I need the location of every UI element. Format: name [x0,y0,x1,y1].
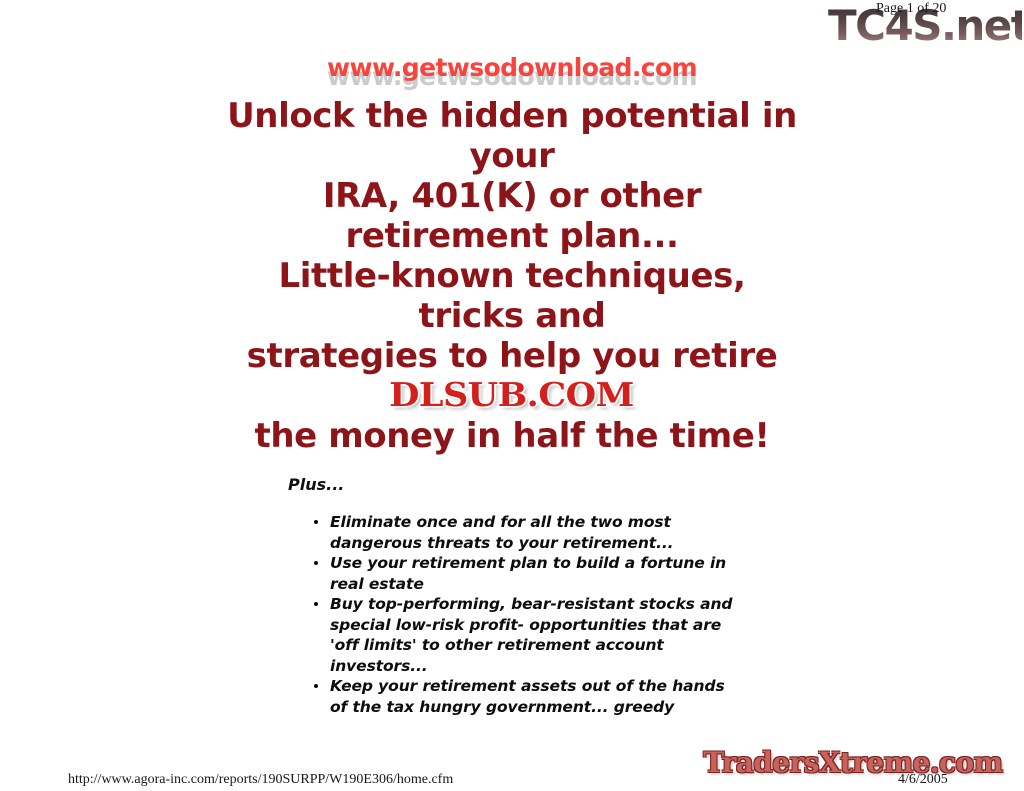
footer-date-label: 4/6/2005 [898,772,948,788]
tradersxtreme-brand-logo-text: TradersXtreme.com [688,746,1018,780]
headline-line-1: Unlock the hidden potential in [142,96,882,136]
headline-line-7: strategies to help you retire [142,336,882,376]
list-item: Buy top-performing, bear-resistant stock… [308,594,738,676]
site-watermark-gray: www.getwsodownload.com [0,62,1024,91]
headline-line-3: IRA, 401(K) or other [142,176,882,216]
tradersxtreme-brand-logo: TradersXtreme.com [688,746,1018,782]
list-item: Use your retirement plan to build a fort… [308,553,738,594]
bullet-dot-icon [314,561,318,565]
headline-line-9: the money in half the time! [142,416,882,456]
list-item: Eliminate once and for all the two most … [308,512,738,553]
bullet-dot-icon [314,520,318,524]
plus-label: Plus... [288,475,344,494]
document-page: TC4S.net Page 1 of 20 www.getwsodownload… [0,0,1024,791]
footer-source-url: http://www.agora-inc.com/reports/190SURP… [68,772,453,788]
site-watermark-red: www.getwsodownload.com [0,53,1024,82]
page-title: Unlock the hidden potential in your IRA,… [142,96,882,456]
headline-line-2: your [142,136,882,176]
headline-line-5: Little-known techniques, [142,256,882,296]
site-watermark: www.getwsodownload.com www.getwsodownloa… [0,45,1024,91]
list-item-label: Eliminate once and for all the two most … [330,513,673,552]
list-item-label: Keep your retirement assets out of the h… [330,677,725,716]
headline-line-6: tricks and [142,296,882,336]
bullet-dot-icon [314,602,318,606]
bullet-dot-icon [314,684,318,688]
list-item: Keep your retirement assets out of the h… [308,676,738,717]
page-number-label: Page 1 of 20 [876,1,946,17]
headline-line-4: retirement plan... [142,216,882,256]
list-item-label: Use your retirement plan to build a fort… [330,554,726,593]
headline-line-8 [142,376,882,416]
list-item-label: Buy top-performing, bear-resistant stock… [330,595,732,675]
benefits-list: Eliminate once and for all the two most … [308,512,738,717]
